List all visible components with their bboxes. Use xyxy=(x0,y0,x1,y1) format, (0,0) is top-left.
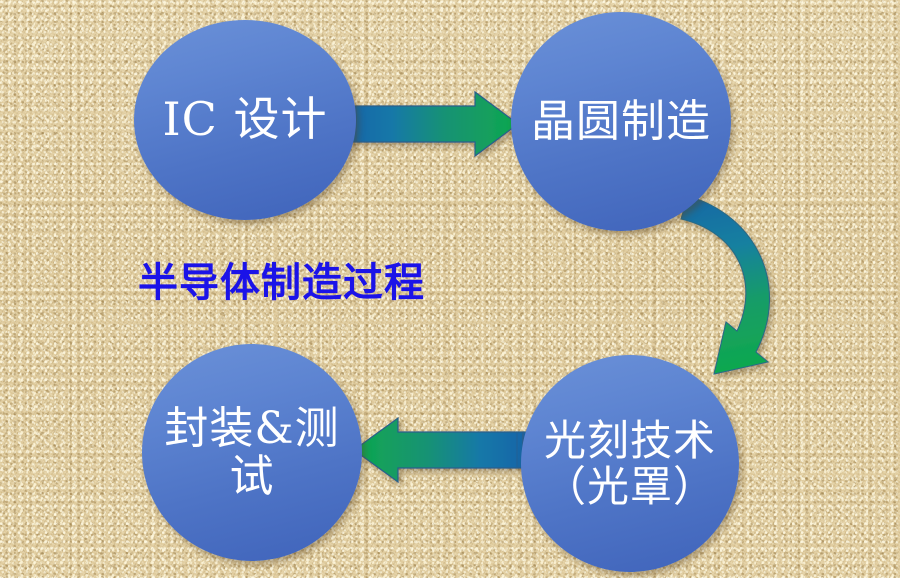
slide-canvas: IC 设计 晶圆制造 光刻技术 （光罩） 封装&测试 半导体制造过程 xyxy=(0,0,900,578)
node-litho-label-line1: 光刻技术 xyxy=(544,418,716,463)
node-ic-design[interactable]: IC 设计 xyxy=(134,20,356,220)
node-ic-design-label: IC 设计 xyxy=(163,95,328,145)
node-packaging[interactable]: 封装&测试 xyxy=(142,344,362,561)
node-wafer-fab[interactable]: 晶圆制造 xyxy=(511,12,731,231)
node-wafer-fab-label: 晶圆制造 xyxy=(531,98,711,146)
node-litho[interactable]: 光刻技术 （光罩） xyxy=(521,355,739,572)
node-packaging-label: 封装&测试 xyxy=(142,405,362,500)
node-litho-label-line2: （光罩） xyxy=(544,464,716,509)
node-litho-label: 光刻技术 （光罩） xyxy=(544,418,716,509)
node-layer: IC 设计 晶圆制造 光刻技术 （光罩） 封装&测试 xyxy=(0,0,900,578)
page-title: 半导体制造过程 xyxy=(138,250,425,308)
